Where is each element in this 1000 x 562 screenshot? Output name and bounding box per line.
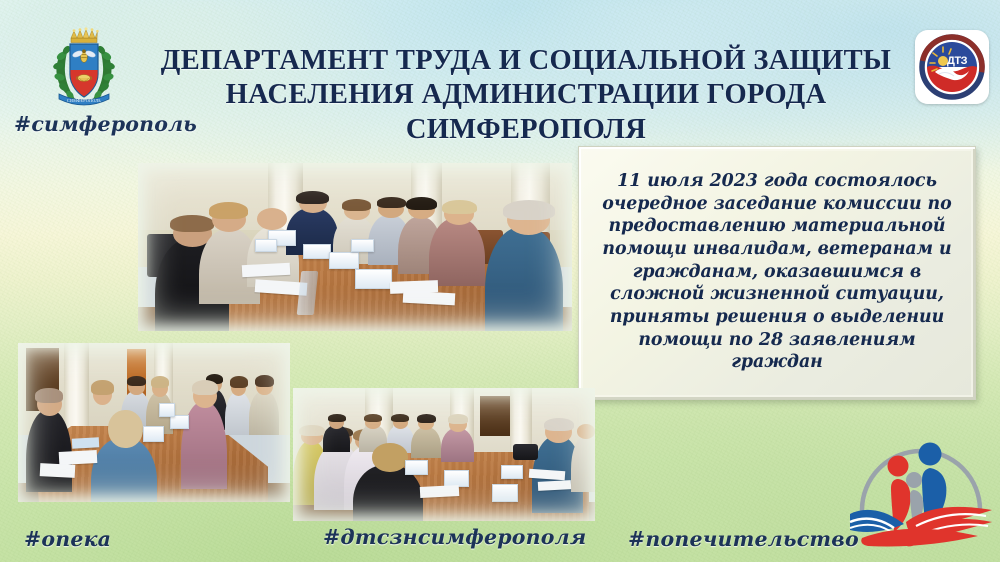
announcement-panel: 11 июля 2023 года состоялось очередное з… [578, 146, 976, 400]
page-title: ДЕПАРТАМЕНТ ТРУДА И СОЦИАЛЬНОЙ ЗАЩИТЫ НА… [152, 44, 900, 147]
svg-text:СИМФЕРОПОЛЬ: СИМФЕРОПОЛЬ [67, 98, 101, 103]
photo-commission-meeting-left [18, 343, 290, 502]
poster-canvas: СИМФЕРОПОЛЬ #симферополь ДЕПАРТАМЕНТ ТРУ… [0, 0, 1000, 562]
title-line-3: СИМФЕРОПОЛЯ [152, 113, 900, 147]
photo-commission-meeting-center [293, 388, 595, 521]
hashtag-popechitelstvo: #попечительство [628, 527, 859, 551]
title-line-2: НАСЕЛЕНИЯ АДМИНИСТРАЦИИ ГОРОДА [152, 78, 900, 112]
svg-text:ДТЗ: ДТЗ [947, 55, 968, 67]
hashtag-opeka: #опека [24, 527, 111, 551]
title-line-1: ДЕПАРТАМЕНТ ТРУДА И СОЦИАЛЬНОЙ ЗАЩИТЫ [152, 44, 900, 78]
simferopol-coat-of-arms-icon: СИМФЕРОПОЛЬ [49, 26, 119, 112]
hashtag-dtszn-simferopolya: #дтсзнсимферополя [323, 525, 586, 549]
department-round-emblem-icon: ДТЗ [915, 30, 989, 104]
family-book-logo-icon [848, 418, 994, 556]
announcement-text: 11 июля 2023 года состоялось очередное з… [593, 170, 961, 374]
photo-commission-meeting-main [138, 163, 572, 331]
